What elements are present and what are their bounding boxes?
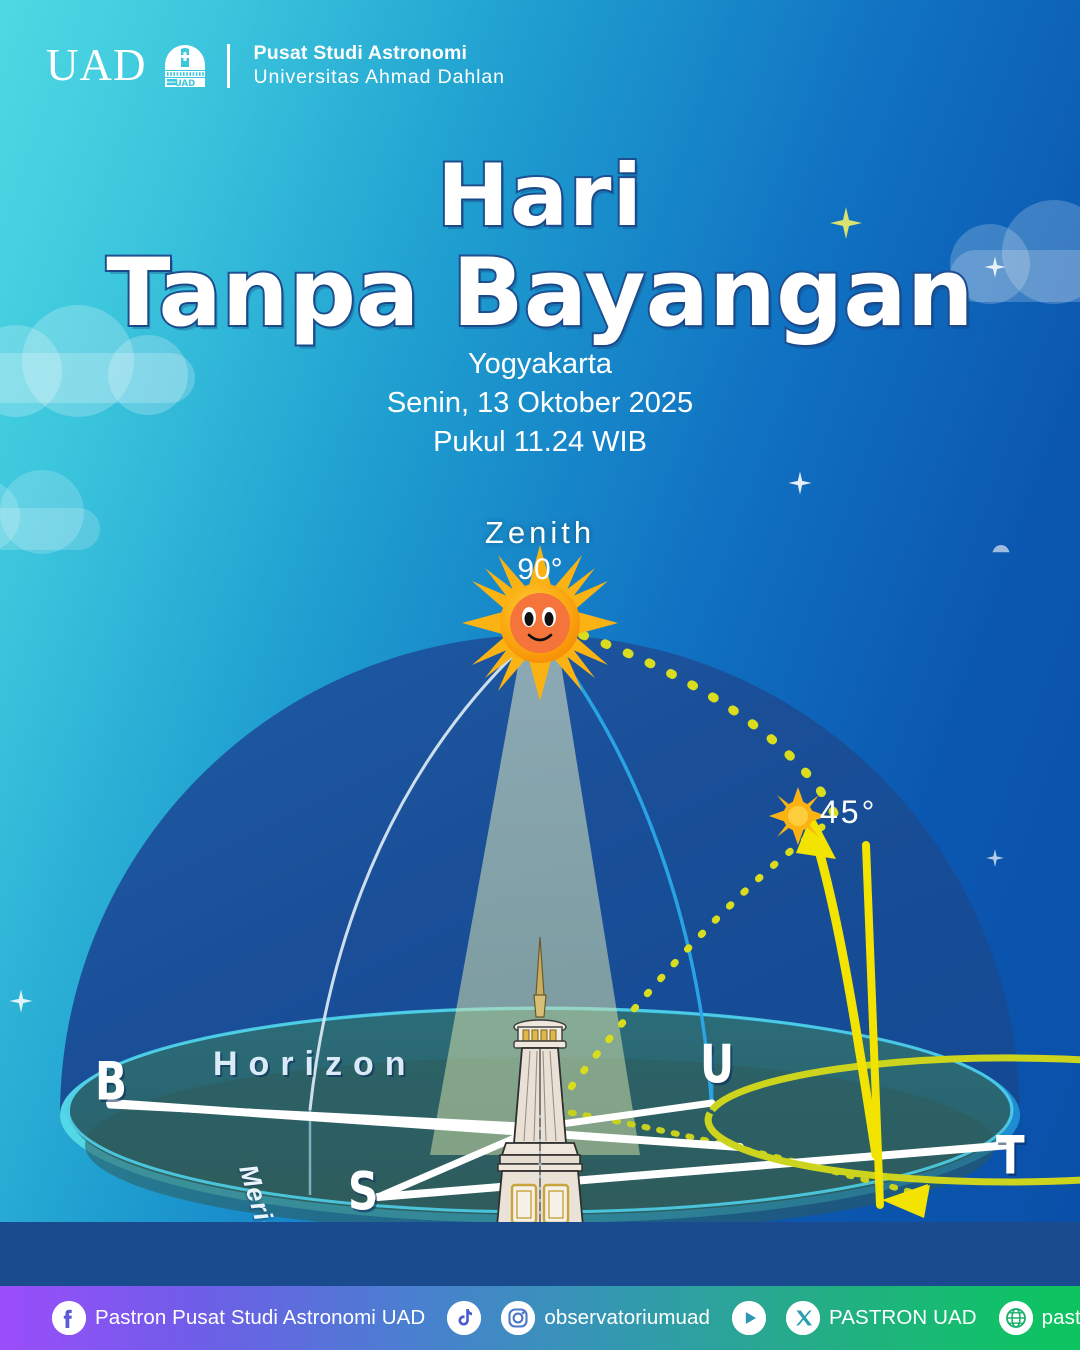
uad-wordmark: UAD	[46, 43, 147, 88]
footer-item-facebook[interactable]: Pastron Pusat Studi Astronomi UAD	[52, 1301, 425, 1335]
globe-icon	[999, 1301, 1033, 1335]
cardinal-south-label: S	[348, 1161, 378, 1222]
footer-item-tiktok[interactable]	[447, 1301, 490, 1335]
x-handle: PASTRON UAD	[829, 1306, 977, 1330]
youtube-icon	[732, 1301, 766, 1335]
poster-title: Hari Tanpa Bayangan	[0, 148, 1080, 344]
poster-canvas: UAD UAD	[0, 0, 1080, 1350]
org-name-secondary: Universitas Ahmad Dahlan	[254, 66, 505, 90]
org-name-primary: Pusat Studi Astronomi	[254, 42, 505, 66]
footer-item-website[interactable]: pastron.uad.ac.id	[999, 1301, 1080, 1335]
divider-band	[0, 1222, 1080, 1286]
svg-text:UAD: UAD	[174, 79, 194, 88]
facebook-handle: Pastron Pusat Studi Astronomi UAD	[95, 1306, 425, 1330]
cardinal-north-label: U	[700, 1034, 734, 1095]
tiktok-icon	[447, 1301, 481, 1335]
sun-icon	[769, 787, 827, 845]
subtitle-location: Yogyakarta	[0, 348, 1080, 381]
logo-divider	[227, 44, 230, 88]
footer-item-x[interactable]: PASTRON UAD	[786, 1301, 977, 1335]
social-footer: Pastron Pusat Studi Astronomi UAD observ…	[0, 1286, 1080, 1350]
celestial-sphere-diagram: Zenith 90° 45° Horizon B U S T Meridian …	[0, 455, 1080, 1245]
title-line-1: Hari	[0, 148, 1080, 244]
instagram-handle: observatoriumuad	[544, 1306, 710, 1330]
facebook-icon	[52, 1301, 86, 1335]
title-line-2: Tanpa Bayangan	[0, 244, 1080, 344]
subtitle-date: Senin, 13 Oktober 2025	[0, 387, 1080, 420]
observatory-dome-icon: UAD	[161, 43, 209, 88]
sun-face-icon	[462, 545, 618, 701]
instagram-icon	[501, 1301, 535, 1335]
cardinal-east-label: T	[996, 1125, 1025, 1186]
x-twitter-icon	[786, 1301, 820, 1335]
website-url: pastron.uad.ac.id	[1042, 1306, 1080, 1330]
cardinal-west-label: B	[95, 1051, 127, 1112]
footer-item-instagram[interactable]: observatoriumuad	[501, 1301, 710, 1335]
footer-item-youtube[interactable]	[732, 1301, 775, 1335]
brand-logo: UAD UAD	[46, 42, 505, 90]
